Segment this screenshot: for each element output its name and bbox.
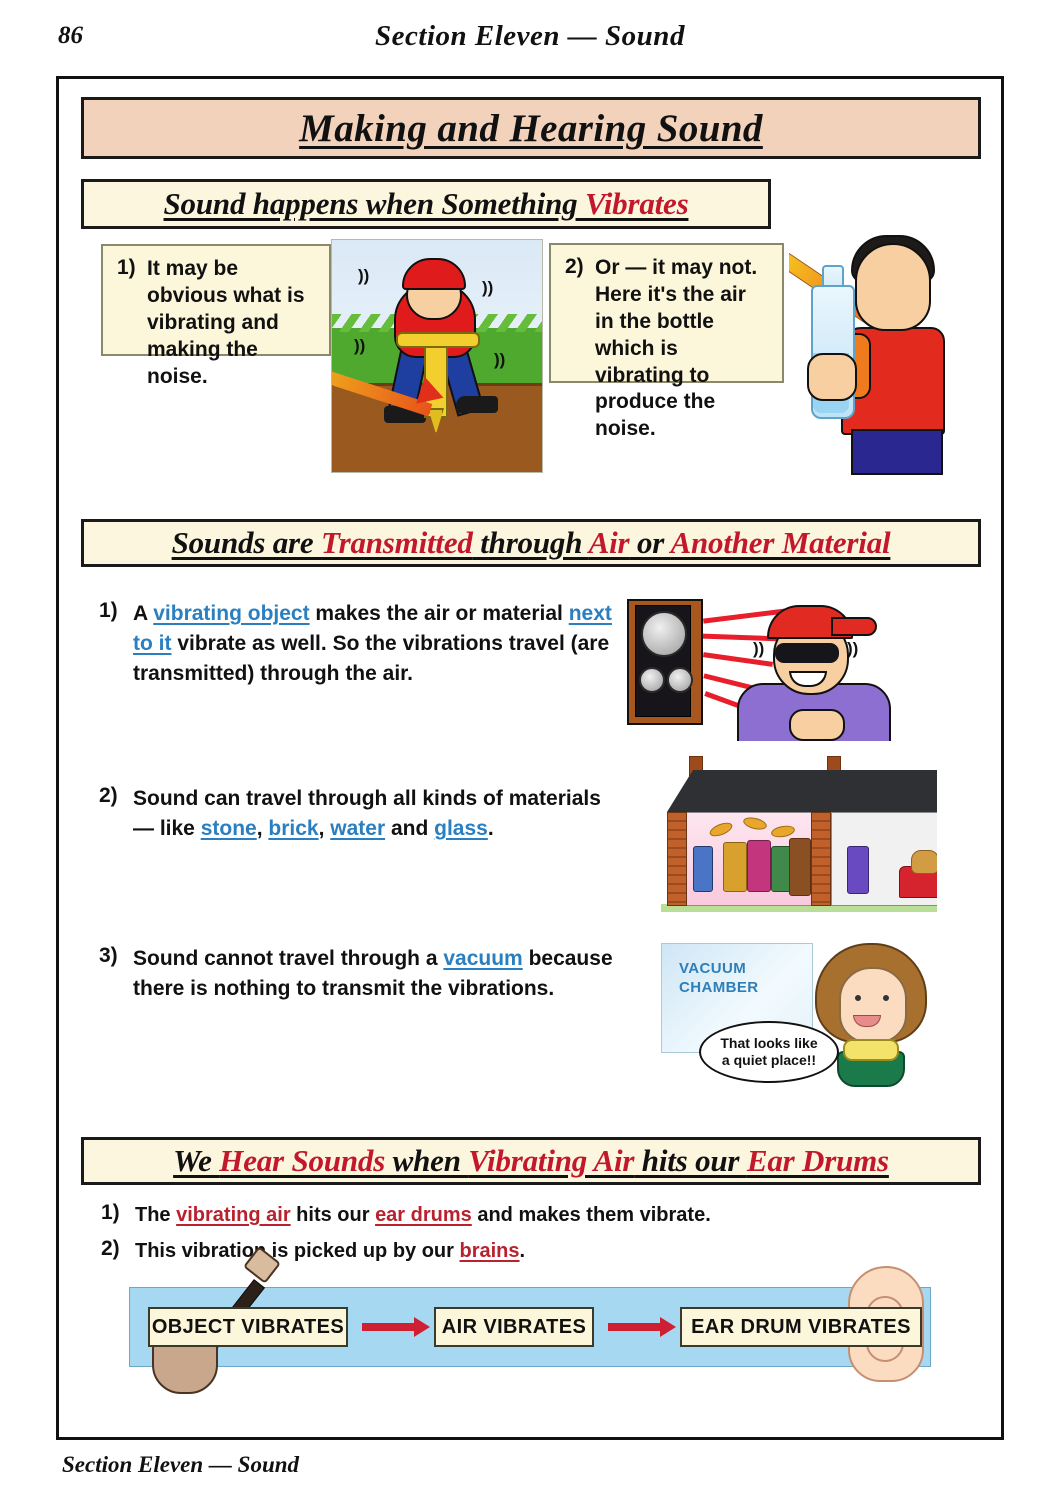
section-heading-1-text: Sound happens when Something Vibrates — [164, 186, 689, 222]
heading-3-p1: We — [173, 1143, 219, 1178]
section-3-point-1: 1) The vibrating air hits our ear drums … — [101, 1201, 801, 1229]
section-heading-2-text: Sounds are Transmitted through Air or An… — [172, 525, 891, 561]
jackhammer-worker-illustration: )) )) )) )) — [331, 239, 543, 473]
point-number: 2) — [99, 784, 133, 844]
page-footer: Section Eleven — Sound — [62, 1452, 299, 1478]
callout-1-number: 1) — [117, 256, 147, 390]
flow-step-2-label: AIR VIBRATES — [442, 1316, 586, 1339]
link-vacuum: vacuum — [443, 947, 522, 970]
heading-3-p3: when — [385, 1143, 468, 1178]
link-vibrating-air: vibrating air — [176, 1204, 290, 1226]
flow-arrow-1-icon — [362, 1323, 416, 1331]
text-b: hits our — [291, 1204, 375, 1226]
heading-2-p5: or — [629, 525, 670, 560]
section-2-point-1: 1) A vibrating object makes the air or m… — [99, 599, 619, 688]
point-text: This vibration is picked up by our brain… — [135, 1237, 525, 1265]
text-b: . — [520, 1240, 526, 1262]
section-heading-1: Sound happens when Something Vibrates — [81, 179, 771, 229]
page-title: Making and Hearing Sound — [81, 97, 981, 159]
text-b: makes the air or material — [310, 602, 569, 625]
page-frame: Making and Hearing Sound Sound happens w… — [56, 76, 1004, 1440]
heading-1-part-1: Sound happens when Something — [164, 186, 585, 221]
text-e: . — [488, 817, 494, 840]
vacuum-chamber-label: VACUUM CHAMBER — [679, 959, 758, 997]
point-text: Sound can travel through all kinds of ma… — [133, 784, 619, 844]
text-a: This vibration is picked up by our — [135, 1240, 460, 1262]
flow-step-3-label: EAR DRUM VIBRATES — [691, 1316, 911, 1339]
sound-flow-diagram: OBJECT VIBRATES AIR VIBRATES EAR DRUM VI… — [129, 1287, 931, 1367]
text-c: , — [319, 817, 331, 840]
callout-2-number: 2) — [565, 255, 595, 443]
flow-step-ear-drum-vibrates: EAR DRUM VIBRATES — [680, 1307, 922, 1347]
two-houses-illustration — [647, 754, 937, 919]
heading-3-p6: Ear Drums — [747, 1143, 889, 1178]
heading-2-p4: Air — [589, 525, 630, 560]
vacuum-label-line-2: CHAMBER — [679, 978, 758, 997]
link-stone: stone — [201, 817, 257, 840]
heading-2-p1: Sounds are — [172, 525, 321, 560]
vacuum-label-line-1: VACUUM — [679, 959, 758, 978]
heading-3-p5: hits our — [634, 1143, 747, 1178]
page-title-text: Making and Hearing Sound — [299, 106, 763, 151]
speech-bubble-text: That looks likea quiet place!! — [720, 1035, 817, 1069]
vacuum-chamber-illustration: VACUUM CHAMBER That looks likea quiet pl… — [657, 941, 947, 1091]
heading-2-p2: Transmitted — [321, 525, 473, 560]
point-number: 1) — [101, 1201, 135, 1229]
point-number: 1) — [99, 599, 133, 688]
flow-step-1-label: OBJECT VIBRATES — [152, 1316, 344, 1339]
text-c: and makes them vibrate. — [472, 1204, 711, 1226]
link-ear-drums: ear drums — [375, 1204, 472, 1226]
callout-2-text: Or — it may not. Here it's the air in th… — [595, 255, 770, 443]
heading-2-p3: through — [473, 525, 589, 560]
loudspeaker-and-listener-illustration: )) )) — [619, 591, 899, 741]
speech-line-1: That looks like — [720, 1035, 817, 1051]
section-2-point-3: 3) Sound cannot travel through a vacuum … — [99, 944, 619, 1004]
heading-2-p6: Another Material — [671, 525, 891, 560]
point-text: A vibrating object makes the air or mate… — [133, 599, 619, 688]
point-number: 2) — [101, 1237, 135, 1265]
link-glass: glass — [434, 817, 488, 840]
section-heading-2: Sounds are Transmitted through Air or An… — [81, 519, 981, 567]
flow-arrow-2-icon — [608, 1323, 662, 1331]
speech-bubble: That looks likea quiet place!! — [699, 1021, 839, 1083]
flow-step-air-vibrates: AIR VIBRATES — [434, 1307, 594, 1347]
heading-3-p4: Vibrating Air — [468, 1143, 634, 1178]
heading-3-p2: Hear Sounds — [219, 1143, 385, 1178]
link-vibrating-object: vibrating object — [153, 602, 309, 625]
text-d: and — [385, 817, 434, 840]
callout-1-text: It may be obvious what is vibrating and … — [147, 256, 317, 390]
text-a: A — [133, 602, 153, 625]
text-c: vibrate as well. So the vibrations trave… — [133, 632, 609, 685]
callout-box-1: 1) It may be obvious what is vibrating a… — [101, 244, 331, 356]
section-2-point-2: 2) Sound can travel through all kinds of… — [99, 784, 619, 844]
text-a: Sound cannot travel through a — [133, 947, 443, 970]
running-head: Section Eleven — Sound — [0, 20, 1060, 53]
callout-box-2: 2) Or — it may not. Here it's the air in… — [549, 243, 784, 383]
point-text: Sound cannot travel through a vacuum bec… — [133, 944, 619, 1004]
section-heading-3: We Hear Sounds when Vibrating Air hits o… — [81, 1137, 981, 1185]
text-a: The — [135, 1204, 176, 1226]
link-water: water — [330, 817, 385, 840]
point-number: 3) — [99, 944, 133, 1004]
text-b: , — [257, 817, 269, 840]
link-brick: brick — [268, 817, 318, 840]
section-heading-3-text: We Hear Sounds when Vibrating Air hits o… — [173, 1143, 889, 1179]
section-3-point-2: 2) This vibration is picked up by our br… — [101, 1237, 801, 1265]
speech-line-2: a quiet place!! — [722, 1052, 816, 1068]
heading-1-part-2: Vibrates — [585, 186, 688, 221]
point-text: The vibrating air hits our ear drums and… — [135, 1201, 711, 1229]
flow-step-object-vibrates: OBJECT VIBRATES — [148, 1307, 348, 1347]
link-brains: brains — [460, 1240, 520, 1262]
boy-blowing-bottle-illustration: )) — [789, 229, 979, 479]
